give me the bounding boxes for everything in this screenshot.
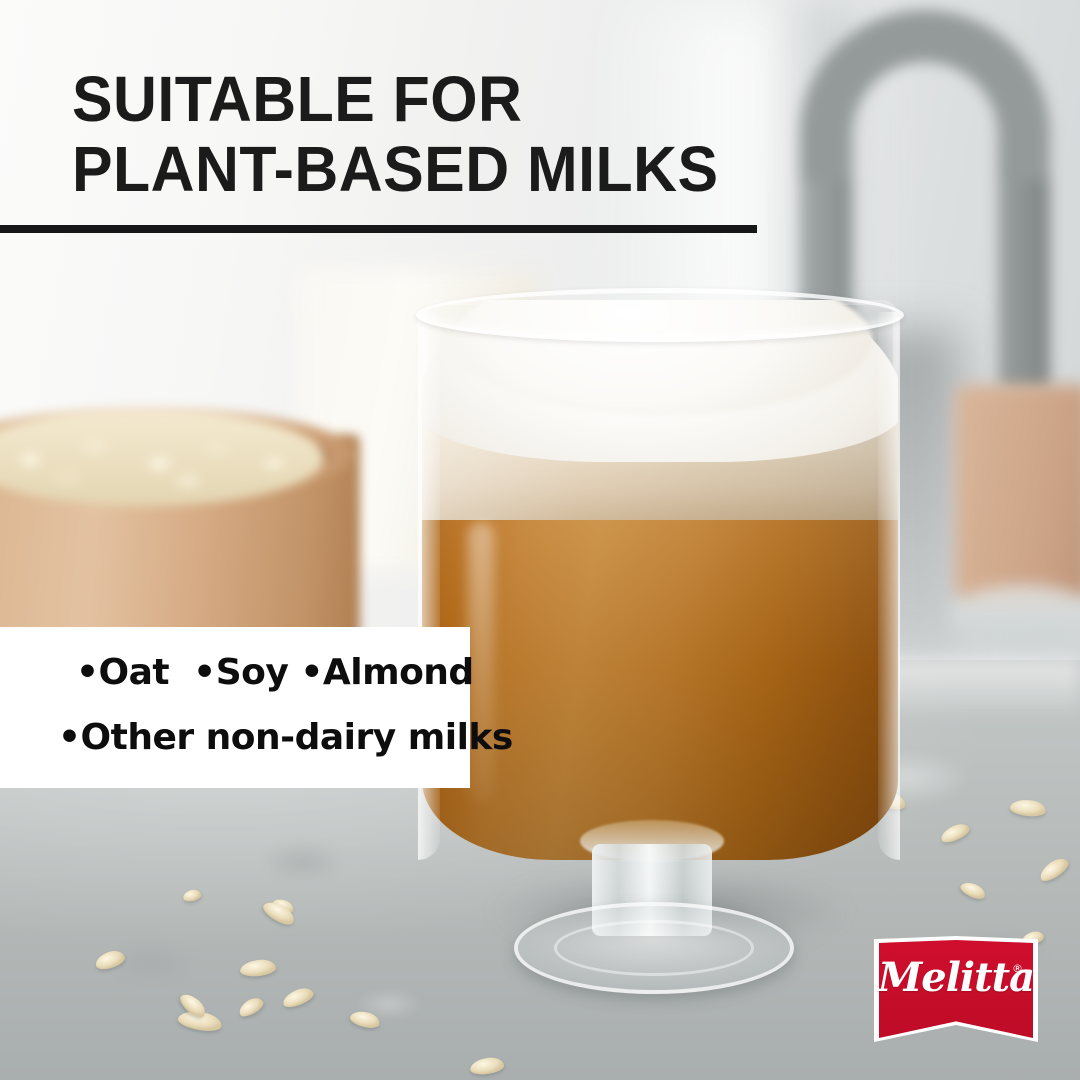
glass-right-wall [878,312,900,860]
latte-glass [404,272,904,972]
glass-rim [416,288,904,342]
milk-types-line-2: •Other non-dairy milks [58,717,513,758]
second-glass [955,385,1080,640]
promo-image: SUITABLE FOR PLANT-BASED MILKS •Oat •Soy… [0,0,1080,1080]
glass-foot-inner-ring [554,920,754,976]
page-title: SUITABLE FOR PLANT-BASED MILKS [72,64,927,204]
second-glass-base [949,585,1080,645]
headline-divider [0,225,757,233]
spout-right-leg [998,180,1050,390]
milk-types-line-1: •Oat •Soy •Almond [76,652,474,693]
oat-bowl [0,398,360,648]
second-glass-liquid [955,385,1080,607]
melitta-logo[interactable]: Melitta ® [874,936,1038,1042]
registered-trademark-icon: ® [1012,962,1023,975]
